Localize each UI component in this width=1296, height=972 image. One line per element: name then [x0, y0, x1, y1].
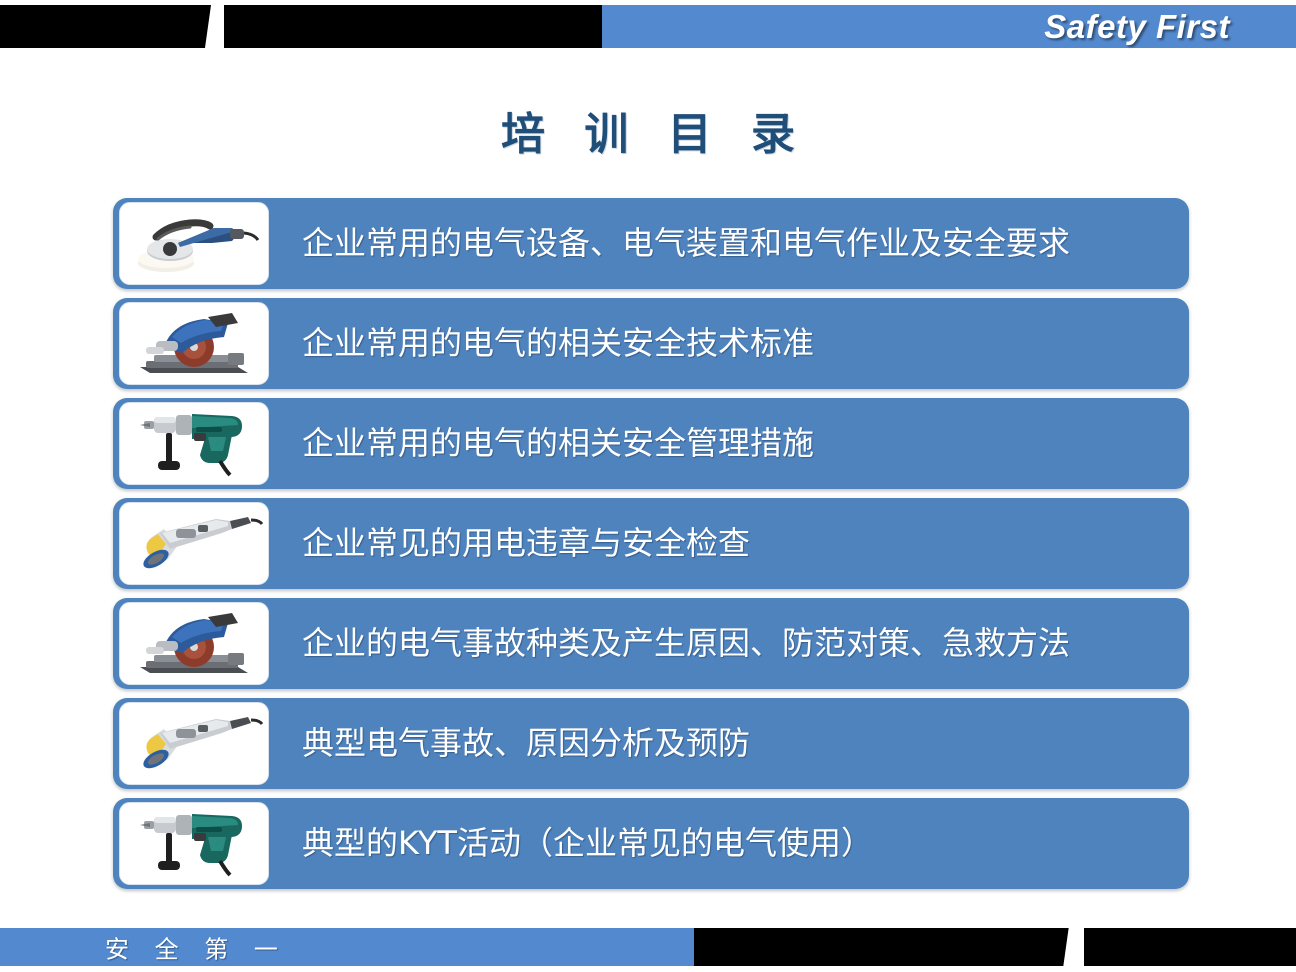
footer-band: 安 全 第 一 — [0, 928, 1296, 966]
list-item-label: 企业常用的电气的相关安全管理措施 — [269, 426, 1189, 461]
angle-grinder-icon — [119, 502, 269, 585]
list-item-label: 典型电气事故、原因分析及预防 — [269, 726, 1189, 761]
list-item[interactable]: 企业常用的电气设备、电气装置和电气作业及安全要求 — [113, 198, 1189, 289]
list-item[interactable]: 典型的KYT活动（企业常见的电气使用） — [113, 798, 1189, 889]
list-item-label: 企业的电气事故种类及产生原因、防范对策、急救方法 — [269, 626, 1189, 661]
list-item-label: 典型的KYT活动（企业常见的电气使用） — [269, 826, 1189, 861]
angle-grinder-icon — [119, 702, 269, 785]
chop-saw-icon — [119, 302, 269, 385]
electric-drill-icon — [119, 802, 269, 885]
electric-drill-icon — [119, 402, 269, 485]
list-item[interactable]: 企业的电气事故种类及产生原因、防范对策、急救方法 — [113, 598, 1189, 689]
list-item[interactable]: 企业常用的电气的相关安全技术标准 — [113, 298, 1189, 389]
training-contents-list: 企业常用的电气设备、电气装置和电气作业及安全要求 企业常用的电气的相关安全技术标… — [113, 198, 1189, 898]
list-item-label: 企业常见的用电违章与安全检查 — [269, 526, 1189, 561]
list-item-label: 企业常用的电气的相关安全技术标准 — [269, 326, 1189, 361]
list-item[interactable]: 企业常用的电气的相关安全管理措施 — [113, 398, 1189, 489]
list-item[interactable]: 企业常见的用电违章与安全检查 — [113, 498, 1189, 589]
footer-text: 安 全 第 一 — [105, 930, 287, 965]
list-item-label: 企业常用的电气设备、电气装置和电气作业及安全要求 — [269, 226, 1189, 261]
footer-black-block-right — [1084, 928, 1296, 966]
header-title: Safety First — [1044, 8, 1230, 46]
footer-black-block-left — [694, 928, 1070, 966]
angle-polisher-icon — [119, 202, 269, 285]
list-item[interactable]: 典型电气事故、原因分析及预防 — [113, 698, 1189, 789]
header-black-block-left — [0, 5, 212, 48]
page-title: 培 训 目 录 — [0, 98, 1296, 162]
header-black-block-right — [224, 5, 602, 48]
header-band: Safety First — [0, 5, 1296, 48]
chop-saw-icon — [119, 602, 269, 685]
